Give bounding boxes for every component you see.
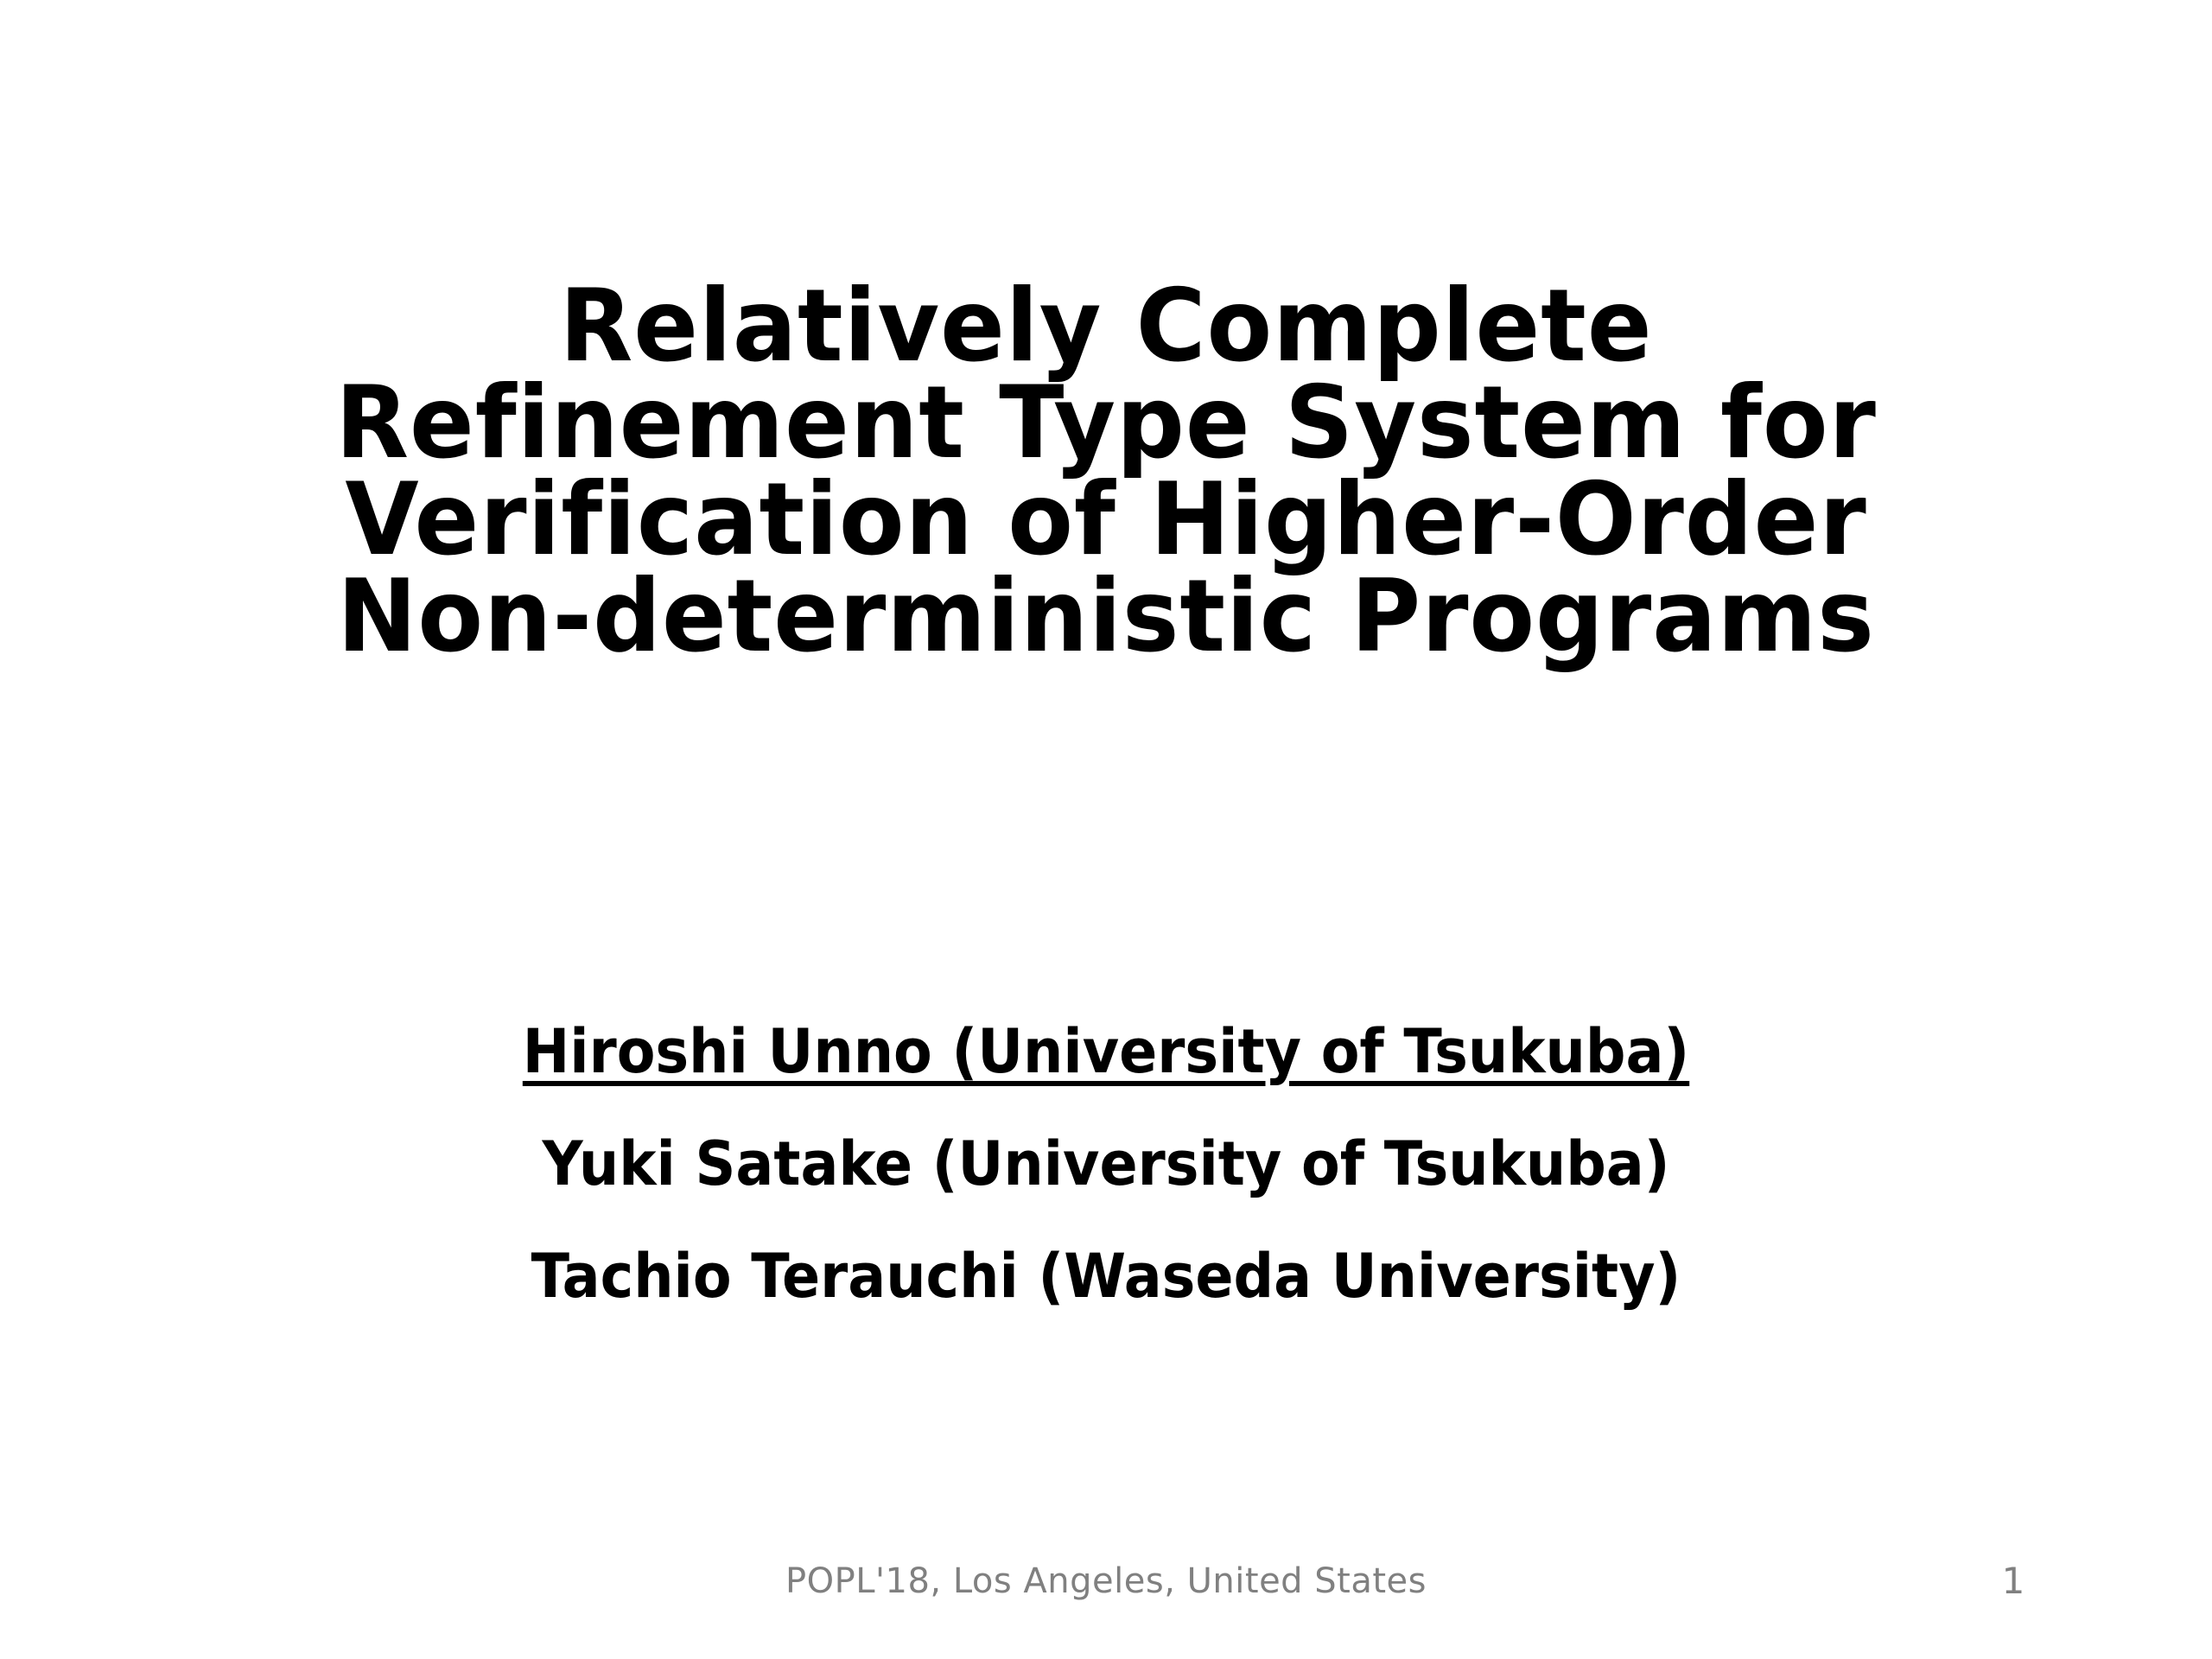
slide-title: Relatively Complete Refinement Type Syst… xyxy=(112,278,2100,665)
presentation-slide: Relatively Complete Refinement Type Syst… xyxy=(0,0,2212,1659)
title-line-1: Relatively Complete xyxy=(162,278,2050,375)
title-line-4: Non-deterministic Programs xyxy=(162,569,2050,665)
author-line-2: Yuki Satake (University of Tsukuba) xyxy=(182,1108,2031,1220)
author-list: Hiroshi Unno (University of Tsukuba) Yuk… xyxy=(112,995,2100,1332)
footer-venue: POPL'18, Los Angeles, United States xyxy=(0,1560,2212,1602)
title-line-3: Verification of Higher-Order xyxy=(162,472,2050,569)
author-line-1: Hiroshi Unno (University of Tsukuba) xyxy=(182,995,2031,1108)
author-line-3: Tachio Terauchi (Waseda University) xyxy=(182,1220,2031,1332)
title-line-2: Refinement Type System for xyxy=(162,375,2050,472)
slide-page-number: 1 xyxy=(1944,1560,2082,1602)
